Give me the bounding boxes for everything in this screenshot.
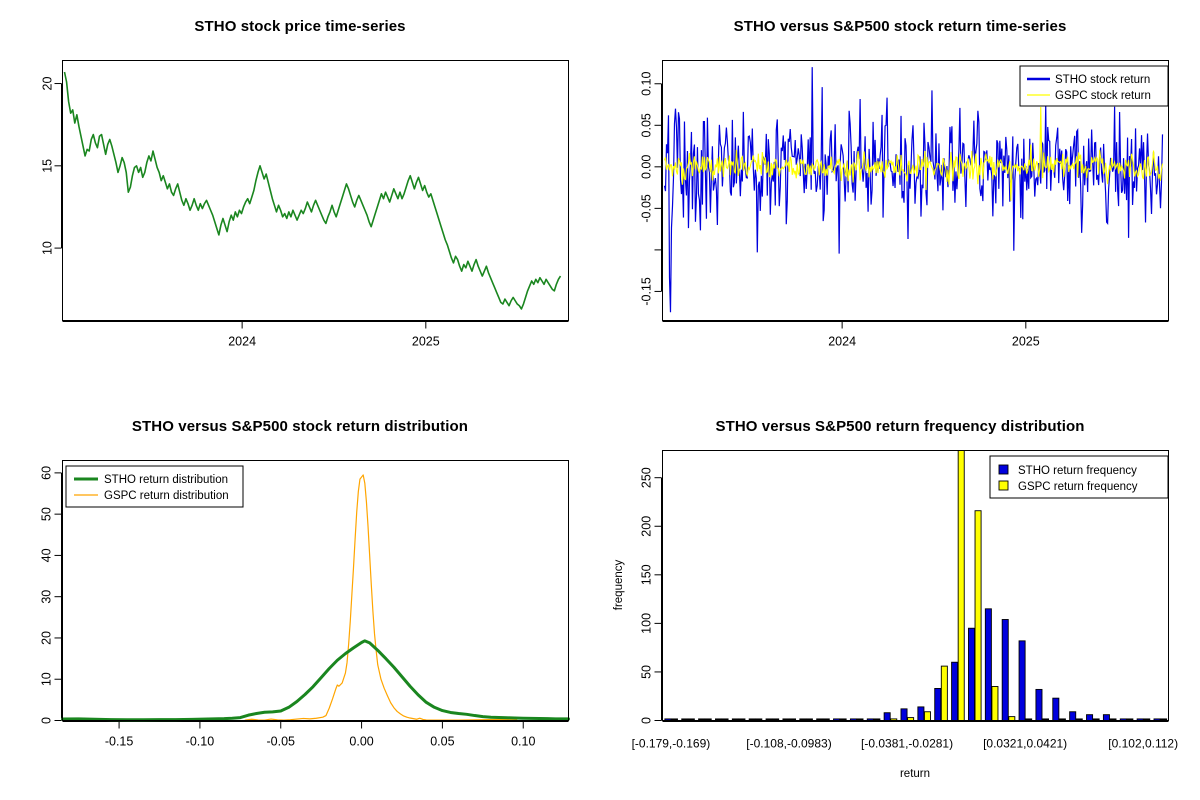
svg-text:[0.102,0.112): [0.102,0.112)	[1108, 737, 1178, 751]
svg-text:[0.0321,0.0421): [0.0321,0.0421)	[983, 737, 1067, 751]
panel-stho-vs-sp500-return-frequency-distribution: STHO versus S&P500 return frequency dist…	[600, 400, 1200, 800]
panel3-legend-label: GSPC return distribution	[104, 490, 229, 502]
panel3-legend: STHO return distributionGSPC return dist…	[66, 466, 243, 507]
svg-text:100: 100	[640, 613, 654, 634]
panel4-bar	[968, 628, 974, 720]
panel4-bar	[1087, 715, 1093, 721]
svg-text:[-0.108,-0.0983): [-0.108,-0.0983)	[746, 737, 831, 751]
panel4-y-axis: 050100150200250	[640, 467, 662, 724]
svg-text:0.00: 0.00	[640, 155, 654, 179]
panel4-bar	[1002, 619, 1008, 720]
svg-text:200: 200	[640, 516, 654, 537]
svg-text:50: 50	[40, 507, 54, 521]
svg-text:[-0.179,-0.169): [-0.179,-0.169)	[632, 737, 711, 751]
svg-text:150: 150	[640, 564, 654, 585]
svg-text:10: 10	[40, 672, 54, 686]
panel2-plot: 0.100.050.00-0.05-0.15 20242025 STHO sto…	[600, 0, 1200, 400]
panel4-bar	[924, 712, 930, 721]
svg-text:20: 20	[41, 77, 55, 91]
panel4-plot: 050100150200250 [-0.179,-0.169)[-0.108,-…	[600, 400, 1200, 800]
panel4-legend-label: GSPC return frequency	[1018, 481, 1138, 493]
svg-text:-0.05: -0.05	[640, 194, 654, 223]
svg-text:0.10: 0.10	[640, 72, 654, 96]
panel1-y-axis: 101520	[41, 77, 62, 256]
panel4-bar	[1009, 717, 1015, 721]
svg-text:-0.05: -0.05	[266, 735, 295, 749]
panel4-legend-label: STHO return frequency	[1018, 465, 1137, 477]
panel4-bar	[992, 687, 998, 721]
panel4-bar	[985, 609, 991, 721]
panel2-x-axis: 20242025	[663, 322, 1169, 349]
panel4-bar	[958, 451, 964, 721]
panel4-x-axis: [-0.179,-0.169)[-0.108,-0.0983)[-0.0381,…	[632, 722, 1179, 751]
svg-text:-0.15: -0.15	[105, 735, 134, 749]
svg-text:-0.10: -0.10	[186, 735, 215, 749]
svg-text:2025: 2025	[412, 335, 440, 349]
panel-stho-vs-sp500-return-distribution: STHO versus S&P500 stock return distribu…	[0, 400, 600, 800]
panel3-y-axis: 0102030405060	[40, 466, 62, 724]
svg-text:40: 40	[40, 548, 54, 562]
svg-text:50: 50	[640, 665, 654, 679]
panel4-bar	[1036, 689, 1042, 720]
svg-text:0: 0	[640, 717, 654, 724]
panel2-legend-label: GSPC stock return	[1055, 90, 1151, 102]
svg-text:-0.15: -0.15	[640, 277, 654, 306]
panel1-plot: 101520 20242025	[0, 0, 600, 400]
panel4-x-axis-label: return	[900, 768, 930, 780]
svg-text:[-0.0381,-0.0281): [-0.0381,-0.0281)	[861, 737, 953, 751]
panel-stho-vs-sp500-return-timeseries: STHO versus S&P500 stock return time-ser…	[600, 0, 1200, 400]
svg-text:0.05: 0.05	[430, 735, 454, 749]
panel4-y-axis-label: frequency	[613, 560, 625, 611]
svg-text:0.00: 0.00	[349, 735, 373, 749]
panel-stho-price-timeseries: STHO stock price time-series 101520 2024…	[0, 0, 600, 400]
panel4-bar	[952, 662, 958, 720]
svg-text:10: 10	[41, 241, 55, 255]
panel2-legend-label: STHO stock return	[1055, 74, 1150, 86]
panel4-bar	[935, 688, 941, 720]
svg-text:60: 60	[40, 466, 54, 480]
panel4-bar	[1019, 641, 1025, 721]
figure-grid: STHO stock price time-series 101520 2024…	[0, 0, 1200, 800]
svg-text:0.10: 0.10	[511, 735, 535, 749]
panel2-legend: STHO stock returnGSPC stock return	[1020, 66, 1168, 106]
panel4-bar	[975, 511, 981, 721]
panel1-x-axis: 20242025	[63, 322, 569, 349]
panel2-y-axis: 0.100.050.00-0.05-0.15	[640, 72, 662, 306]
panel3-plot: 0102030405060 -0.15-0.10-0.050.000.050.1…	[0, 400, 600, 800]
svg-text:0.05: 0.05	[640, 113, 654, 137]
panel4-bar	[1053, 698, 1059, 720]
panel4-bar	[884, 713, 890, 721]
panel4-bar	[901, 709, 907, 721]
svg-text:2025: 2025	[1012, 335, 1040, 349]
panel4-bar	[941, 666, 947, 720]
panel3-legend-label: STHO return distribution	[104, 474, 228, 486]
svg-text:20: 20	[40, 631, 54, 645]
panel4-bar	[918, 707, 924, 721]
svg-text:2024: 2024	[828, 335, 856, 349]
svg-text:0: 0	[40, 717, 54, 724]
panel3-x-axis: -0.15-0.10-0.050.000.050.10	[63, 722, 569, 749]
panel4-bar	[1103, 715, 1109, 721]
panel1-data-line	[65, 72, 561, 309]
panel4-bar	[1070, 712, 1076, 721]
panel4-legend: STHO return frequencyGSPC return frequen…	[990, 456, 1168, 498]
svg-text:2024: 2024	[228, 335, 256, 349]
panel3-data-series	[63, 475, 569, 721]
svg-text:30: 30	[40, 590, 54, 604]
svg-text:15: 15	[41, 159, 55, 173]
svg-text:250: 250	[640, 467, 654, 488]
